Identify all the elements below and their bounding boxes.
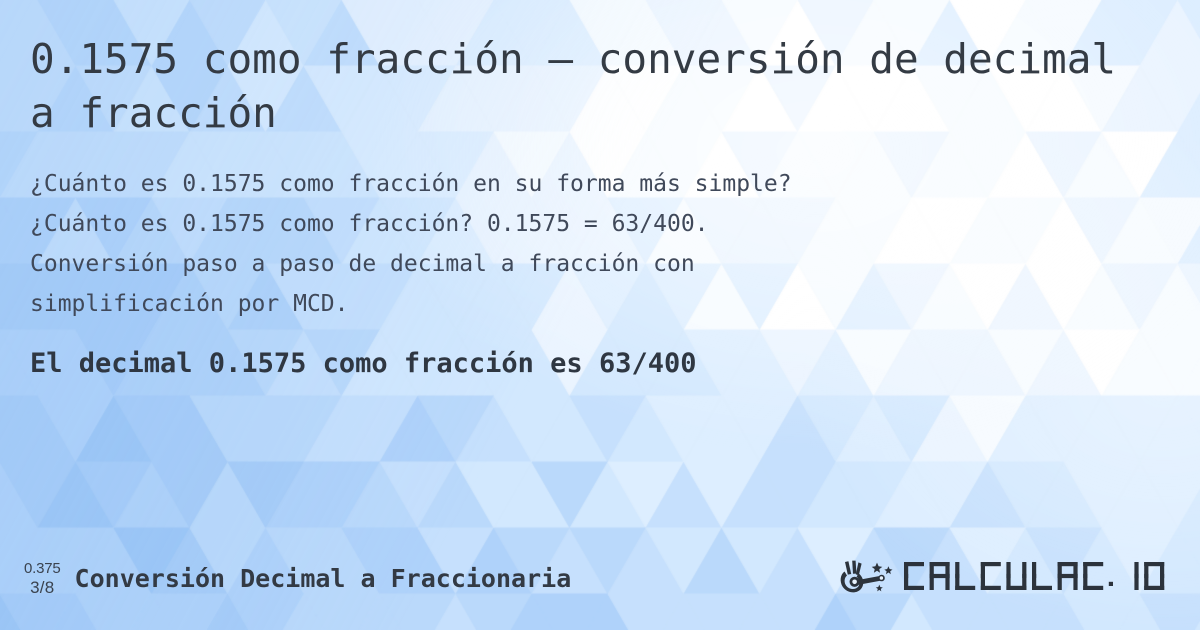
answer-statement: El decimal 0.1575 como fracción es 63/40… <box>30 346 1170 382</box>
description-paragraph: ¿Cuánto es 0.1575 como fracción en su fo… <box>30 164 1110 324</box>
footer-bar: 0.375 3/8 Conversión Decimal a Fracciona… <box>0 552 1200 604</box>
fraction-example-fraction: 3/8 <box>30 579 54 596</box>
fraction-example-decimal: 0.375 <box>24 561 61 576</box>
description-line-2: ¿Cuánto es 0.1575 como fracción? 0.1575 … <box>30 204 1110 244</box>
footer-title: Conversión Decimal a Fraccionaria <box>75 564 572 593</box>
description-line-3: Conversión paso a paso de decimal a frac… <box>30 244 1110 284</box>
magic-wand-hand-icon <box>836 558 898 598</box>
description-line-1: ¿Cuánto es 0.1575 como fracción en su fo… <box>30 164 1110 204</box>
calculatio-wordmark <box>902 558 1170 598</box>
fraction-example-icon: 0.375 3/8 <box>24 561 61 596</box>
poster-content: 0.1575 como fracción – conversión de dec… <box>0 0 1200 630</box>
calculatio-logo[interactable] <box>836 558 1170 598</box>
description-line-4: simplificación por MCD. <box>30 284 1110 324</box>
page-title: 0.1575 como fracción – conversión de dec… <box>30 32 1142 140</box>
